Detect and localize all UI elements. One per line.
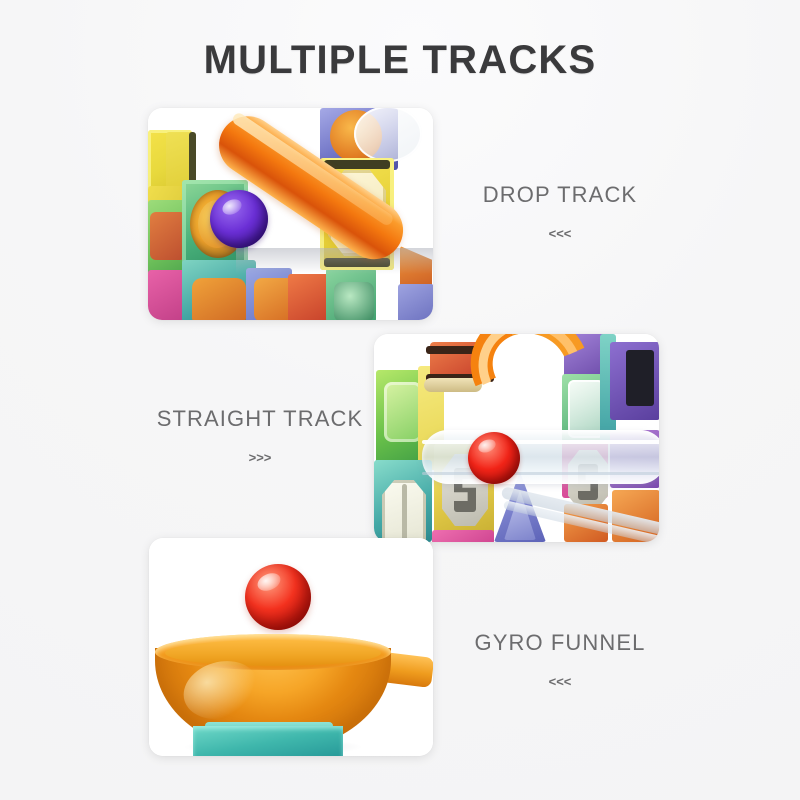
tube-lower-edge xyxy=(422,472,659,475)
surface-shadow xyxy=(236,248,433,274)
product-feature-page: MULTIPLE TRACKS xyxy=(0,0,800,800)
red-track-piece xyxy=(150,212,186,260)
feature-label-straight-track: STRAIGHT TRACK xyxy=(140,406,380,432)
chevron-left-icon: <<< xyxy=(440,226,680,241)
drop-track-photo xyxy=(148,108,433,320)
straight-track-photo xyxy=(374,334,659,542)
dark-window xyxy=(626,350,654,406)
chevron-left-icon: <<< xyxy=(440,674,680,689)
caption-straight-track: STRAIGHT TRACK >>> xyxy=(140,406,380,465)
feature-card-drop-track[interactable] xyxy=(148,108,433,320)
caption-drop-track: DROP TRACK <<< xyxy=(440,182,680,241)
window-mullion xyxy=(402,484,407,542)
clear-horizontal-tube xyxy=(422,430,659,484)
purple-marble xyxy=(210,190,268,248)
funnel-inner-surface xyxy=(165,640,381,666)
caption-gyro-funnel: GYRO FUNNEL <<< xyxy=(440,630,680,689)
orange-track-piece xyxy=(192,278,246,320)
green-ring-piece xyxy=(384,382,422,442)
purple-tile xyxy=(398,284,433,320)
feature-label-drop-track: DROP TRACK xyxy=(440,182,680,208)
chevron-right-icon: >>> xyxy=(140,450,380,465)
pink-tile xyxy=(432,530,494,542)
feature-card-gyro-funnel[interactable] xyxy=(149,538,433,756)
gyro-funnel-photo xyxy=(149,538,433,756)
clear-funnel-piece xyxy=(354,108,422,162)
green-arch-piece xyxy=(334,282,374,320)
feature-label-gyro-funnel: GYRO FUNNEL xyxy=(440,630,680,656)
page-title: MULTIPLE TRACKS xyxy=(0,38,800,83)
tube-highlight xyxy=(422,440,659,444)
teal-base xyxy=(193,726,343,756)
feature-card-straight-track[interactable] xyxy=(374,334,659,542)
